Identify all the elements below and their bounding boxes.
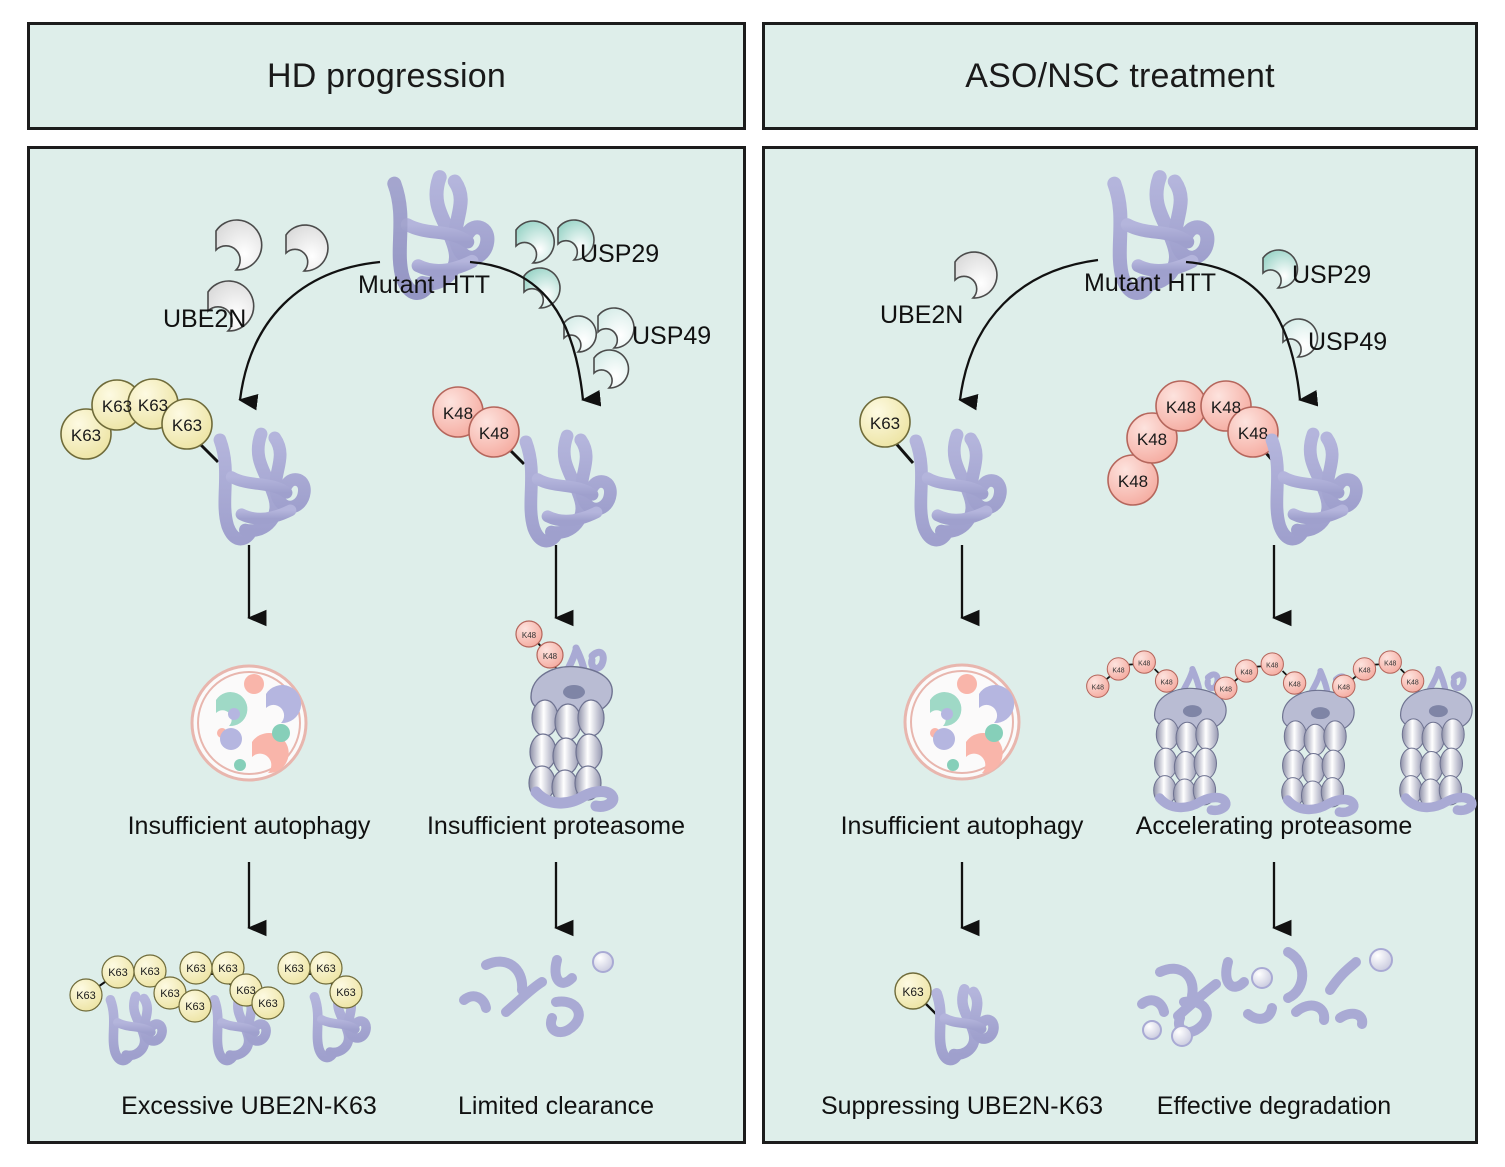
final-label-proteasome-right: Effective degradation — [1157, 1092, 1391, 1121]
outcome-label-autophagy-left: Insufficient autophagy — [128, 812, 371, 841]
final-label-autophagy-right: Suppressing UBE2N-K63 — [821, 1092, 1103, 1121]
panel-header-hd: HD progression — [27, 22, 746, 130]
outcome-label-autophagy-right: Insufficient autophagy — [841, 812, 1084, 841]
panel-header-aso: ASO/NSC treatment — [762, 22, 1478, 130]
outcome-label-proteasome-left: Insufficient proteasome — [427, 812, 685, 841]
outcome-label-proteasome-right: Accelerating proteasome — [1136, 812, 1413, 841]
panel-title-hd: HD progression — [267, 57, 506, 96]
final-label-autophagy-left: Excessive UBE2N-K63 — [121, 1092, 377, 1121]
panel-title-aso: ASO/NSC treatment — [965, 57, 1275, 96]
panel-body-hd — [27, 146, 746, 1144]
panel-body-aso — [762, 146, 1478, 1144]
figure-root: HD progression ASO/NSC treatment — [0, 0, 1505, 1167]
final-label-proteasome-left: Limited clearance — [458, 1092, 654, 1121]
